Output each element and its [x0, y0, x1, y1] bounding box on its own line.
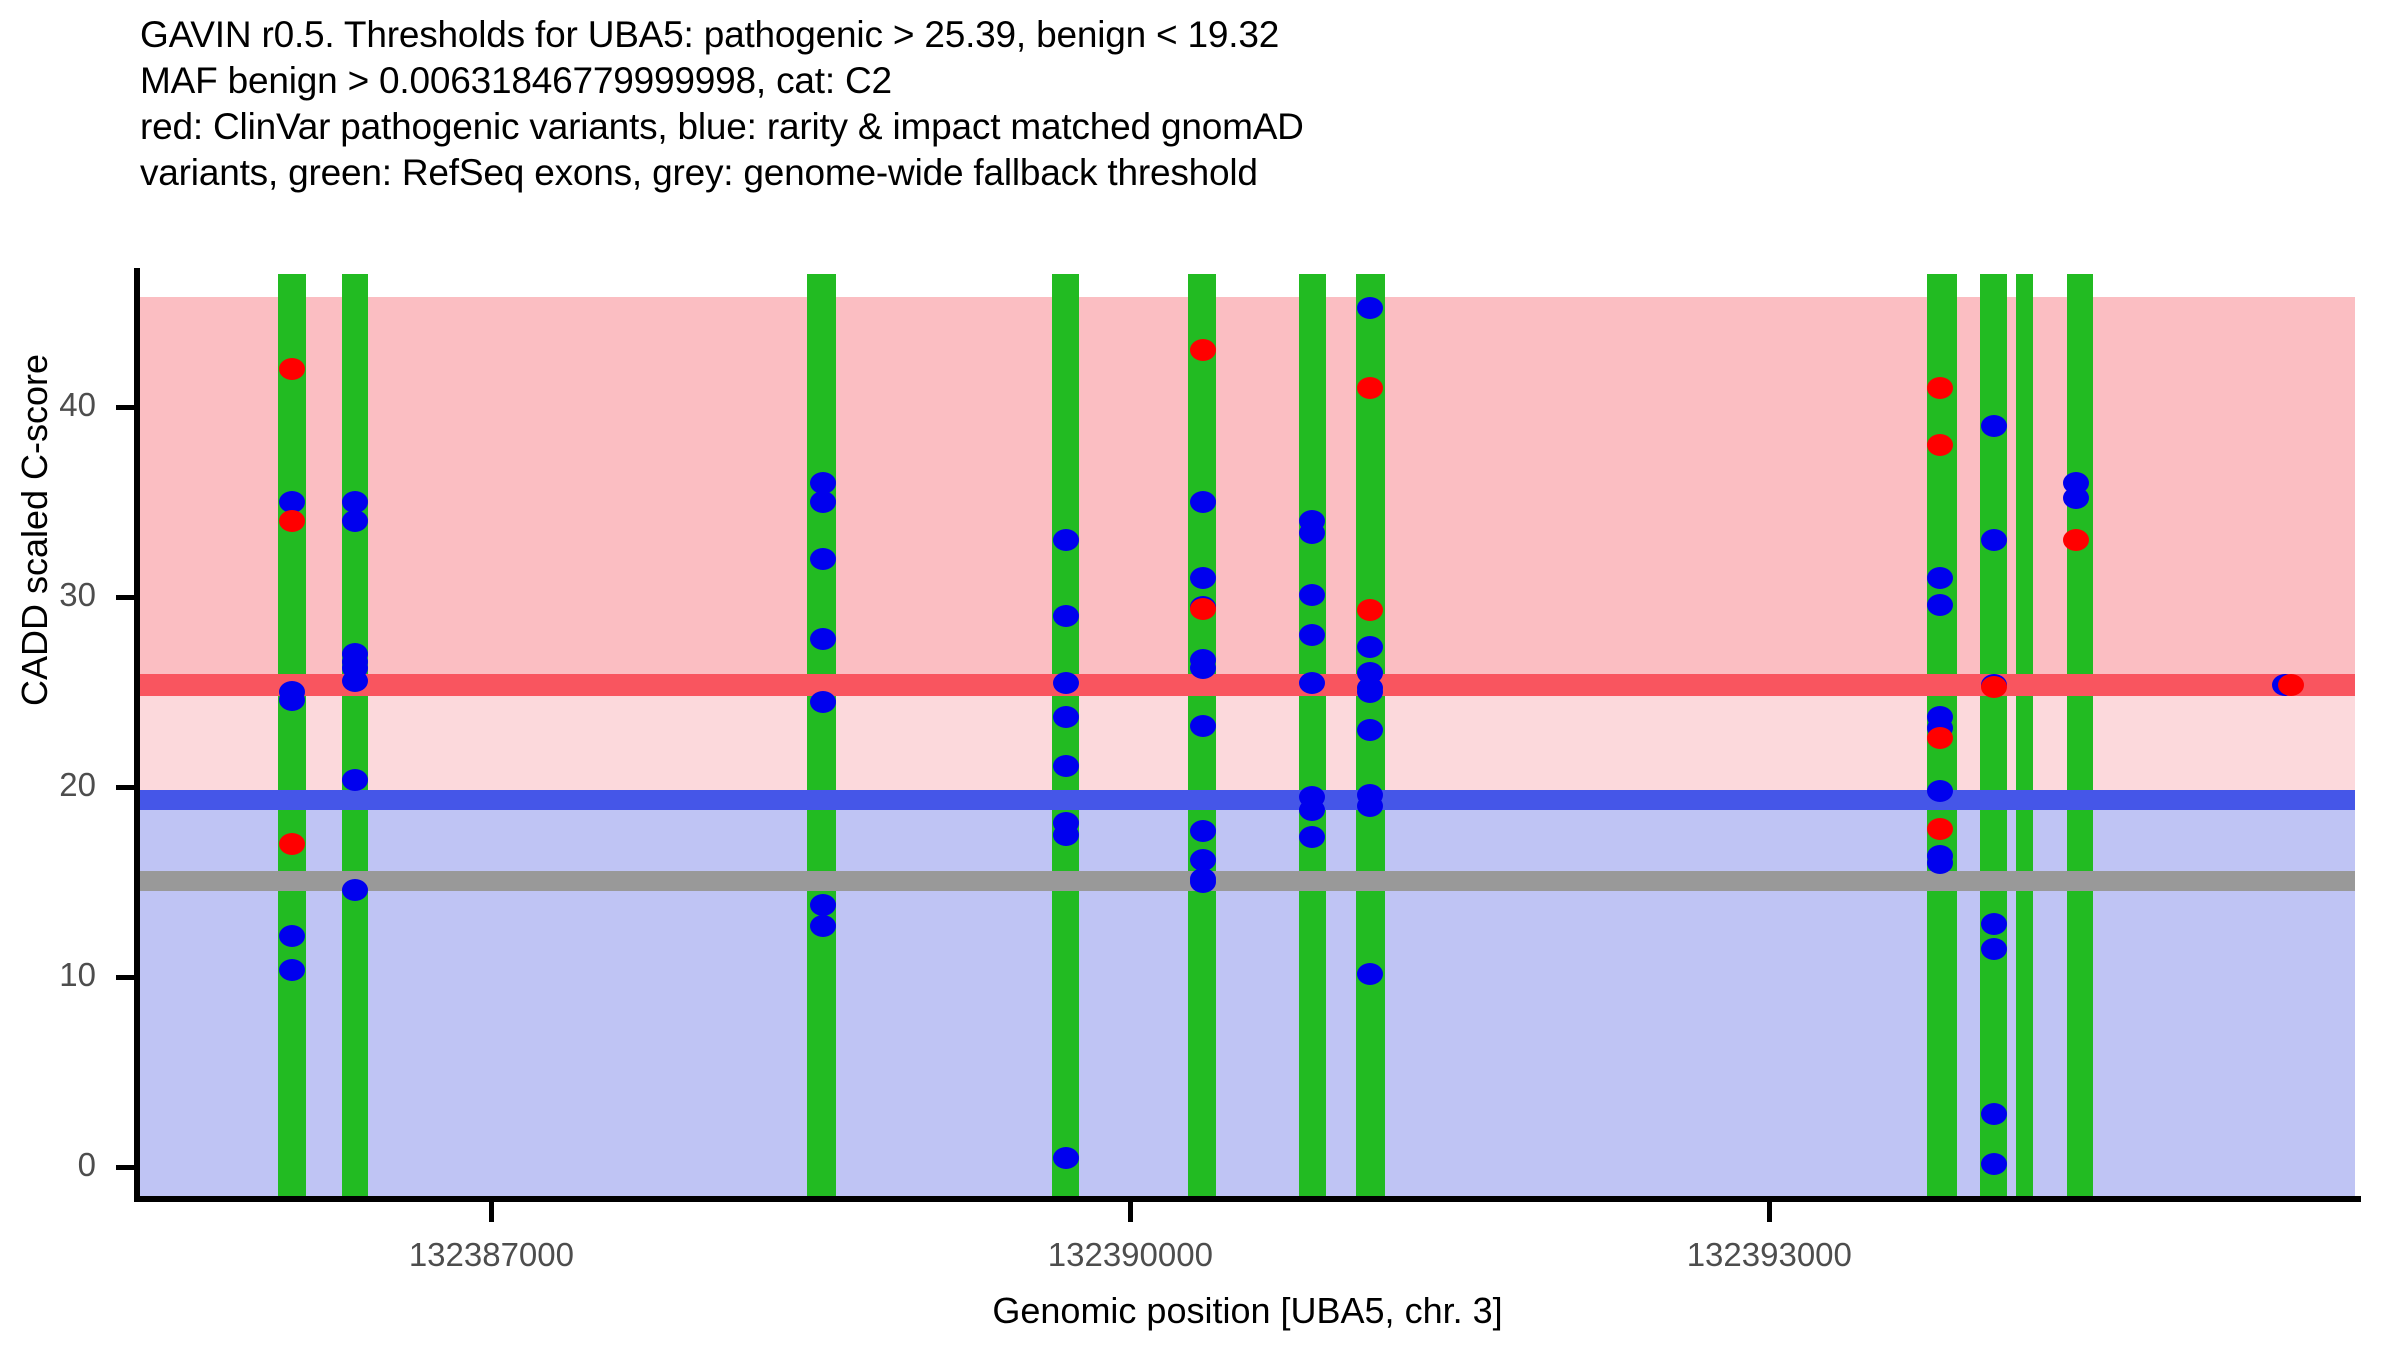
- exon-bar: [2016, 274, 2033, 1196]
- clinvar-pathogenic-point: [1927, 377, 1953, 399]
- x-axis-title: Genomic position [UBA5, chr. 3]: [140, 1290, 2355, 1332]
- gnomad-variant-point: [342, 769, 368, 791]
- clinvar-pathogenic-point: [1981, 676, 2007, 698]
- clinvar-pathogenic-point: [1190, 339, 1216, 361]
- gnomad-variant-point: [1357, 297, 1383, 319]
- gnomad-variant-point: [1927, 852, 1953, 874]
- gnomad-variant-point: [1053, 672, 1079, 694]
- plot-panel: [140, 274, 2355, 1196]
- pathogenic-threshold-line: [140, 674, 2355, 696]
- benign-threshold-line: [140, 790, 2355, 810]
- x-tick-label: 132393000: [1599, 1236, 1939, 1274]
- gnomad-variant-point: [810, 491, 836, 513]
- title-line-1: GAVIN r0.5. Thresholds for UBA5: pathoge…: [140, 12, 2340, 58]
- title-line-3: red: ClinVar pathogenic variants, blue: …: [140, 104, 2340, 150]
- y-tick-label: 10: [0, 956, 96, 994]
- gnomad-variant-point: [1981, 938, 2007, 960]
- x-tick-label: 132390000: [960, 1236, 1300, 1274]
- x-tick-mark: [489, 1202, 494, 1222]
- chart-title-block: GAVIN r0.5. Thresholds for UBA5: pathoge…: [140, 12, 2340, 196]
- gnomad-variant-point: [1927, 567, 1953, 589]
- gnomad-variant-point: [1981, 1153, 2007, 1175]
- gnomad-variant-point: [810, 915, 836, 937]
- clinvar-pathogenic-point: [2063, 529, 2089, 551]
- gnomad-variant-point: [342, 670, 368, 692]
- gnomad-variant-point: [1190, 820, 1216, 842]
- exon-bar: [1052, 274, 1080, 1196]
- title-line-4: variants, green: RefSeq exons, grey: gen…: [140, 150, 2340, 196]
- gnomad-variant-point: [1927, 780, 1953, 802]
- clinvar-pathogenic-point: [2278, 674, 2304, 696]
- title-line-2: MAF benign > 0.00631846779999998, cat: C…: [140, 58, 2340, 104]
- exon-bar: [1980, 274, 2007, 1196]
- clinvar-pathogenic-point: [1927, 434, 1953, 456]
- y-tick-mark: [116, 785, 136, 790]
- y-tick-label: 20: [0, 766, 96, 804]
- y-tick-label: 30: [0, 576, 96, 614]
- chart-root: GAVIN r0.5. Thresholds for UBA5: pathoge…: [0, 0, 2400, 1350]
- y-tick-label: 40: [0, 386, 96, 424]
- exon-bar: [278, 274, 306, 1196]
- gnomad-variant-point: [1190, 871, 1216, 893]
- gnomad-variant-point: [1299, 672, 1325, 694]
- gnomad-variant-point: [1299, 826, 1325, 848]
- x-tick-mark: [1767, 1202, 1772, 1222]
- gnomad-variant-point: [342, 879, 368, 901]
- exon-bar: [807, 274, 837, 1196]
- gnomad-variant-point: [1299, 522, 1325, 544]
- x-tick-mark: [1128, 1202, 1133, 1222]
- gnomad-variant-point: [1927, 594, 1953, 616]
- gnomad-variant-point: [810, 894, 836, 916]
- clinvar-pathogenic-point: [1190, 598, 1216, 620]
- y-tick-label: 0: [0, 1146, 96, 1184]
- fallback-threshold-line: [140, 871, 2355, 891]
- clinvar-pathogenic-point: [1927, 818, 1953, 840]
- gnomad-variant-point: [1190, 657, 1216, 679]
- gnomad-variant-point: [1981, 415, 2007, 437]
- gnomad-variant-point: [279, 925, 305, 947]
- clinvar-pathogenic-point: [1357, 377, 1383, 399]
- y-axis-title: CADD scaled C-score: [14, 30, 70, 1030]
- exon-bar: [1299, 274, 1327, 1196]
- gnomad-variant-point: [1981, 913, 2007, 935]
- gnomad-variant-point: [1357, 963, 1383, 985]
- exon-bar: [2067, 274, 2093, 1196]
- x-tick-label: 132387000: [321, 1236, 661, 1274]
- gnomad-variant-point: [1190, 567, 1216, 589]
- y-tick-mark: [116, 595, 136, 600]
- y-tick-mark: [116, 1165, 136, 1170]
- gnomad-variant-point: [279, 959, 305, 981]
- exon-bar: [342, 274, 368, 1196]
- y-tick-mark: [116, 405, 136, 410]
- gnomad-variant-point: [810, 691, 836, 713]
- gnomad-variant-point: [279, 689, 305, 711]
- gnomad-variant-point: [810, 548, 836, 570]
- clinvar-pathogenic-point: [1927, 727, 1953, 749]
- gnomad-variant-point: [810, 628, 836, 650]
- gnomad-variant-point: [1357, 636, 1383, 658]
- x-axis-line: [134, 1196, 2361, 1202]
- y-tick-mark: [116, 975, 136, 980]
- gnomad-variant-point: [1981, 529, 2007, 551]
- gnomad-variant-point: [1190, 491, 1216, 513]
